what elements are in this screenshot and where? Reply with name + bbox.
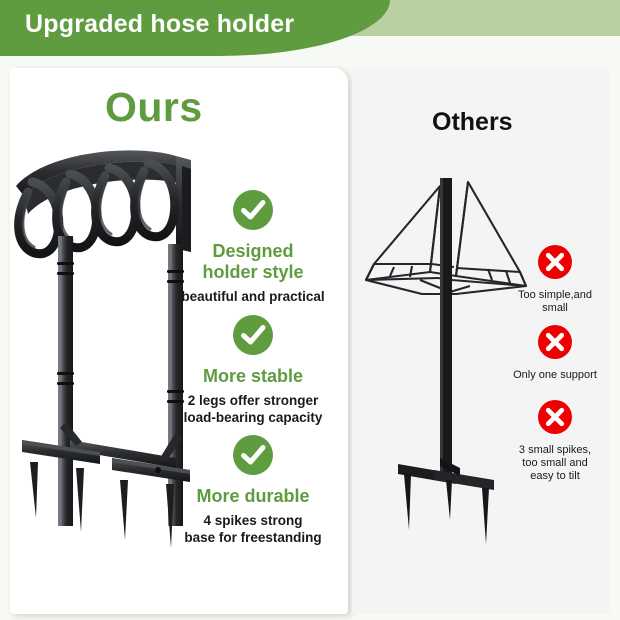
con-item-only-one-support: Only one support bbox=[490, 325, 620, 382]
infographic-stage: Upgraded hose holder Ours bbox=[0, 0, 620, 620]
check-circle-icon bbox=[233, 190, 273, 230]
feature-item-designed-holder-style: Designed holder style beautiful and prac… bbox=[168, 190, 338, 305]
con-description-line1: 3 small spikes, bbox=[490, 444, 620, 457]
feature-description: beautiful and practical bbox=[168, 288, 338, 305]
con-item-3-small-spikes: 3 small spikes, too small and easy to ti… bbox=[490, 400, 620, 483]
con-description-line1: Too simple,and bbox=[490, 289, 620, 302]
feature-item-more-durable: More durable 4 spikes strong base for fr… bbox=[168, 435, 338, 546]
feature-title-line1: More stable bbox=[168, 366, 338, 387]
feature-title-line1: More durable bbox=[168, 486, 338, 507]
others-heading: Others bbox=[432, 108, 513, 137]
feature-title-line1: Designed bbox=[168, 241, 338, 262]
check-circle-icon bbox=[233, 315, 273, 355]
feature-item-more-stable: More stable 2 legs offer stronger load-b… bbox=[168, 315, 338, 426]
feature-description-line1: 2 legs offer stronger bbox=[168, 392, 338, 409]
con-description-line2: too small and bbox=[490, 457, 620, 470]
con-item-too-simple-and-small: Too simple,and small bbox=[490, 245, 620, 315]
con-description-line3: easy to tilt bbox=[490, 470, 620, 483]
check-circle-icon bbox=[233, 435, 273, 475]
ours-heading: Ours bbox=[105, 84, 203, 131]
x-circle-icon bbox=[538, 400, 572, 434]
x-circle-icon bbox=[538, 325, 572, 359]
con-description-line1: Only one support bbox=[490, 369, 620, 382]
feature-description-line2: load-bearing capacity bbox=[168, 409, 338, 426]
con-description-line2: small bbox=[490, 302, 620, 315]
x-circle-icon bbox=[538, 245, 572, 279]
feature-description-line1: 4 spikes strong bbox=[168, 512, 338, 529]
feature-description-line2: base for freestanding bbox=[168, 529, 338, 546]
feature-title-line2: holder style bbox=[168, 262, 338, 283]
page-title: Upgraded hose holder bbox=[25, 10, 294, 39]
